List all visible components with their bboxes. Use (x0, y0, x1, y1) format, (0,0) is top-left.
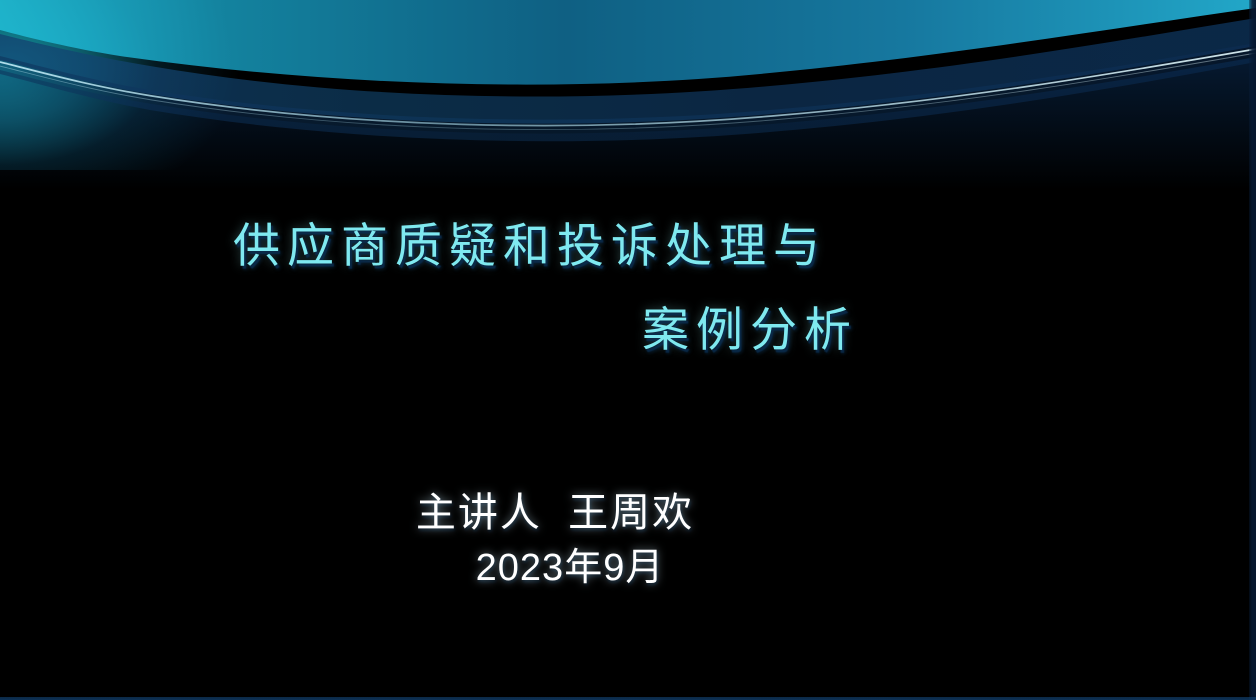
presentation-slide: 供应商质疑和投诉处理与 案例分析 主讲人 王周欢 2023年9月 (0, 0, 1256, 700)
title-line-2: 案例分析 (0, 288, 1060, 372)
presenter-block: 主讲人 王周欢 (0, 487, 1110, 539)
slide-title: 供应商质疑和投诉处理与 案例分析 (0, 204, 1060, 372)
presenter-name: 主讲人 王周欢 (416, 491, 694, 535)
presentation-date: 2023年9月 (0, 542, 1140, 594)
title-line-1: 供应商质疑和投诉处理与 (0, 204, 1060, 288)
right-edge-band (1249, 0, 1256, 700)
top-left-teal-glow (0, 0, 300, 170)
top-wave-ribbon (0, 0, 1256, 190)
